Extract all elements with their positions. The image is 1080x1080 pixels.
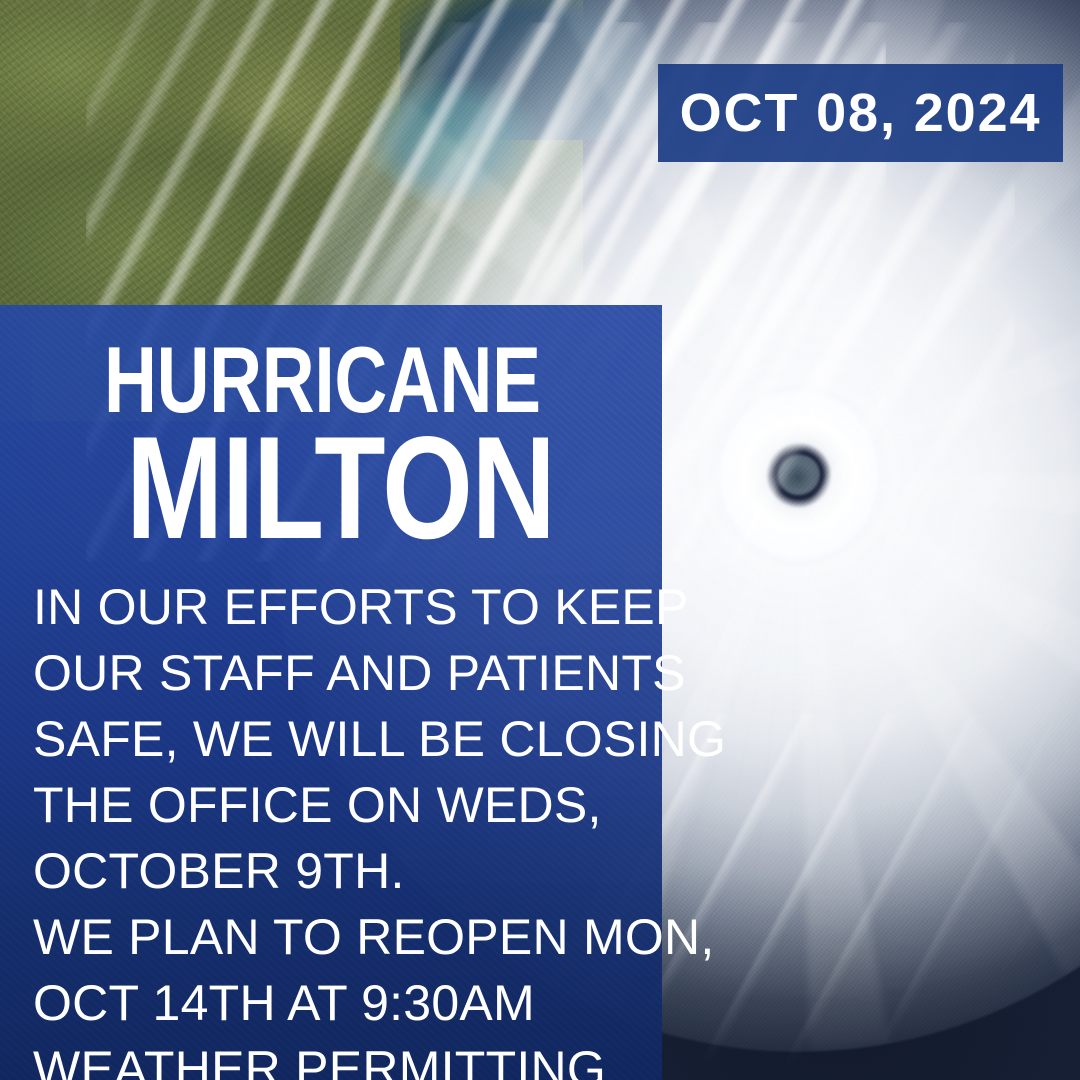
message-line: SAFE, WE WILL BE CLOSING xyxy=(33,706,753,772)
message-line: OUR STAFF AND PATIENTS xyxy=(33,640,753,706)
message-line: WE PLAN TO REOPEN MON, xyxy=(33,904,753,970)
message-line: IN OUR EFFORTS TO KEEP xyxy=(33,574,753,640)
date-banner: OCT 08, 2024 xyxy=(658,64,1063,162)
message-line: OCTOBER 9TH. xyxy=(33,838,753,904)
date-text: OCT 08, 2024 xyxy=(680,86,1042,140)
message-body: IN OUR EFFORTS TO KEEP OUR STAFF AND PAT… xyxy=(33,574,753,1080)
message-line: OCT 14TH AT 9:30AM xyxy=(33,970,753,1036)
headline-line-milton: MILTON xyxy=(126,425,554,551)
message-line: WEATHER PERMITTING. xyxy=(33,1036,753,1080)
message-line: THE OFFICE ON WEDS, xyxy=(33,772,753,838)
hurricane-closure-poster: OCT 08, 2024 HURRICANE MILTON IN OUR EFF… xyxy=(0,0,1080,1080)
